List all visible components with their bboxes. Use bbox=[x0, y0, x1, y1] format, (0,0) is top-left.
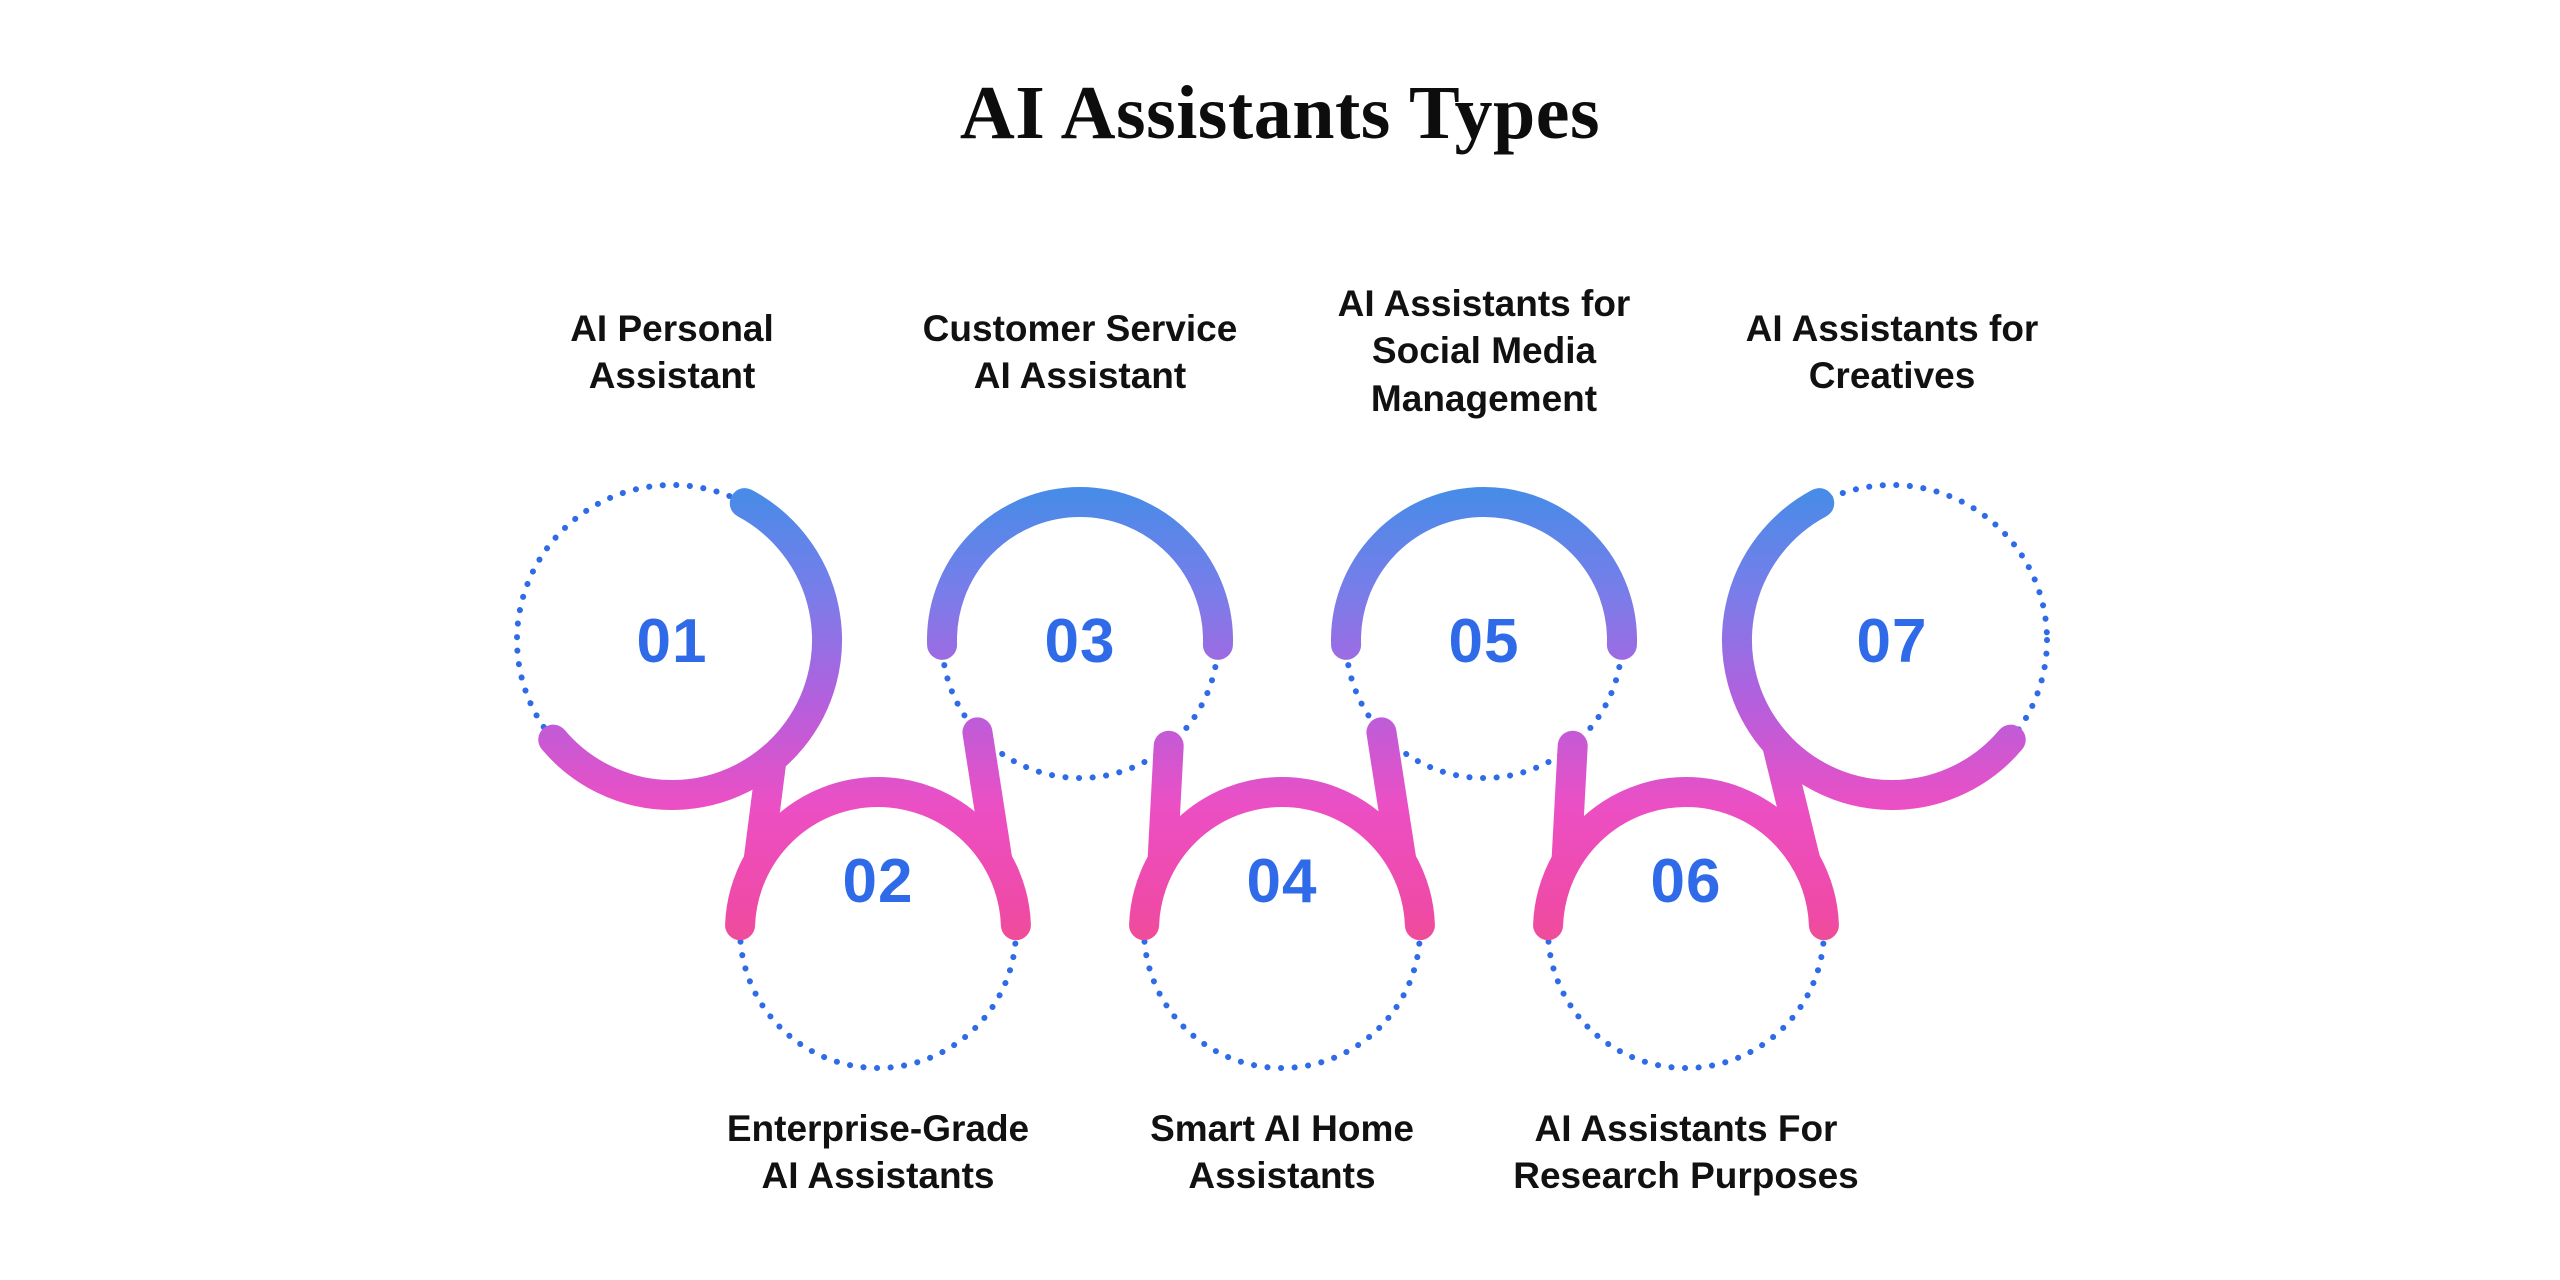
node-number-07: 07 bbox=[1857, 607, 1928, 676]
node-label-01: AI Personal Assistant bbox=[570, 305, 774, 400]
ribbon-joint-02-03 bbox=[977, 732, 997, 861]
diagram-canvas: 01020304050607 bbox=[0, 0, 2560, 1280]
node-number-05: 05 bbox=[1449, 607, 1520, 676]
node-label-05: AI Assistants for Social Media Managemen… bbox=[1338, 280, 1631, 422]
node-label-07: AI Assistants for Creatives bbox=[1746, 305, 2039, 400]
node-number-02: 02 bbox=[843, 847, 914, 916]
ribbon-joint-03-04 bbox=[1162, 746, 1168, 861]
chain-diagram-svg: 01020304050607 bbox=[0, 0, 2560, 1280]
node-label-04: Smart AI Home Assistants bbox=[1150, 1105, 1414, 1200]
node-label-02: Enterprise-Grade AI Assistants bbox=[727, 1105, 1029, 1200]
node-number-01: 01 bbox=[637, 607, 708, 676]
ribbon-joint-05-06 bbox=[1566, 746, 1572, 861]
node-number-04: 04 bbox=[1247, 847, 1318, 916]
node-label-03: Customer Service AI Assistant bbox=[923, 305, 1238, 400]
ribbon-joint-04-05 bbox=[1381, 732, 1401, 861]
node-label-06: AI Assistants For Research Purposes bbox=[1513, 1105, 1859, 1200]
node-number-06: 06 bbox=[1651, 847, 1722, 916]
infographic-page: AI Assistants Types 01020304050607 AI Pe… bbox=[0, 0, 2560, 1280]
ribbon-joint-01-02 bbox=[758, 759, 771, 861]
node-number-03: 03 bbox=[1045, 607, 1116, 676]
